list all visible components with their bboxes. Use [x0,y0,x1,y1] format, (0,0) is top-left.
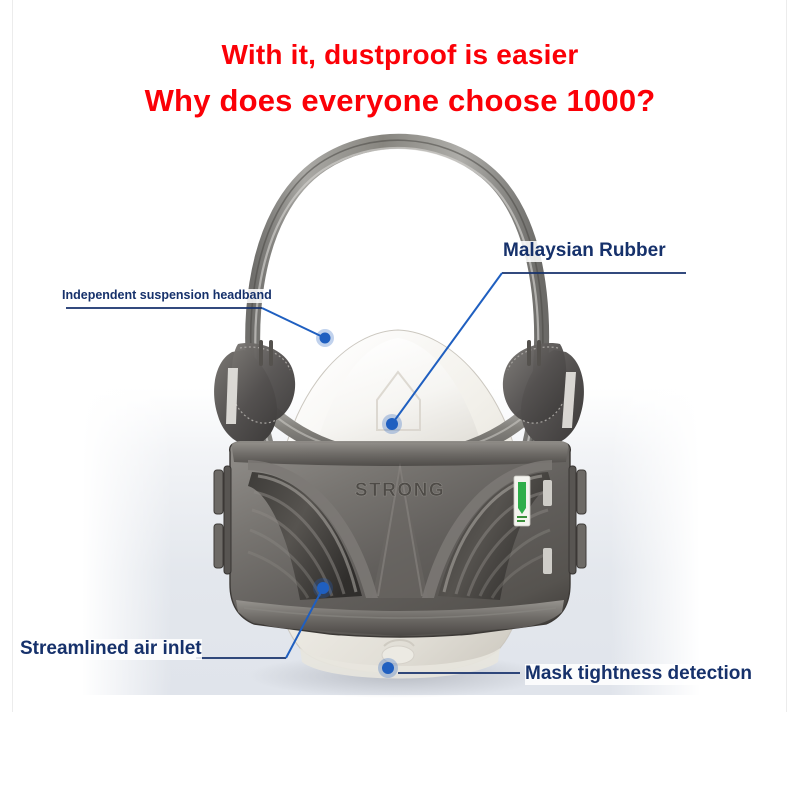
leader-tightness [378,658,520,678]
callout-label-malaysian-rubber: Malaysian Rubber [503,241,666,262]
leader-headband [66,308,334,347]
callout-label-air-inlet: Streamlined air inlet [20,639,202,660]
callout-label-headband: Independent suspension headband [62,289,272,303]
leader-air-inlet [196,578,333,658]
product-feature-graphic: With it, dustproof is easier Why does ev… [0,0,800,800]
leader-rubber [382,273,686,434]
callout-label-tightness-detection: Mask tightness detection [525,664,752,685]
